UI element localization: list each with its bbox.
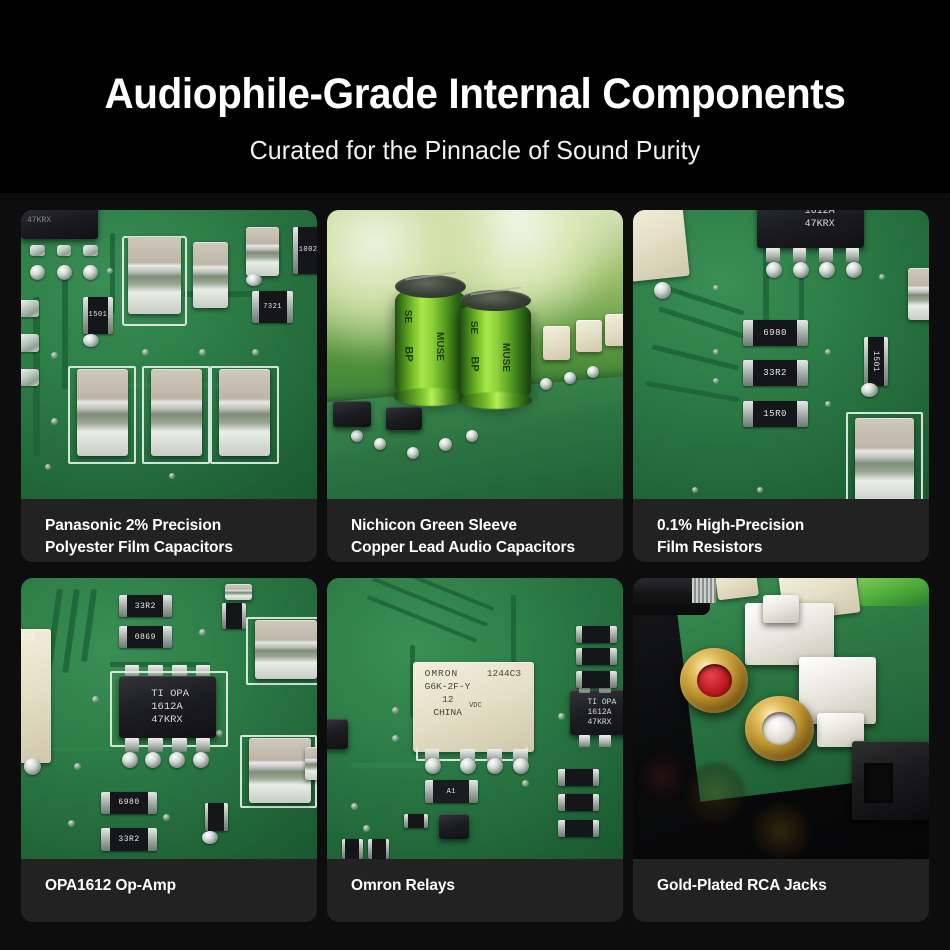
- component-card-grid: 47KRX: [21, 210, 929, 922]
- chip-marking-line-1: TI OPA: [151, 688, 216, 701]
- chip-marking-ic: 47KRX: [21, 216, 98, 225]
- rca-jack-right-channel: [680, 648, 748, 713]
- chip-ti-opa1612-right: TI OPA 1612A 47KRX: [570, 690, 623, 735]
- resistor-33r2-top: 33R2: [119, 595, 172, 617]
- chip-marking-line-2: 1612A: [587, 708, 623, 718]
- resistor-marking-0869: 0869: [135, 633, 156, 642]
- caption-line-1: Nichicon Green Sleeve: [351, 515, 601, 537]
- resistor-6980: 6980: [743, 320, 808, 346]
- capacitor-marking-se: SE: [402, 309, 413, 322]
- resistor-marking-1501: 1501: [871, 351, 880, 372]
- caption-line-1: Omron Relays: [351, 875, 601, 897]
- caption-line-2: Film Resistors: [657, 537, 907, 559]
- page-subtitle: Curated for the Pinnacle of Sound Purity: [19, 135, 931, 166]
- resistor-15r0: 15R0: [743, 401, 808, 427]
- resistor-marking-15r0: 15R0: [763, 409, 787, 419]
- rca-jack-left-channel: [745, 696, 813, 761]
- component-caption-gold-plated-rca-jacks: Gold-Plated RCA Jacks: [633, 859, 929, 922]
- chip-marking-line-2: 47KRX: [805, 219, 864, 232]
- component-photo-panasonic-film-capacitors: 47KRX: [21, 210, 317, 499]
- relay-marking-voltage-unit: VDC: [469, 702, 482, 710]
- connector-block: [633, 210, 690, 282]
- capacitor-marking-muse-2: MUSE: [500, 343, 511, 372]
- capacitor-marking-se-2: SE: [468, 321, 479, 334]
- resistor-33r2: 33R2: [743, 360, 808, 386]
- silkscreen-c3: C3: [21, 631, 35, 645]
- chip-marking-line-3: 47KRX: [587, 718, 623, 728]
- component-card-nichicon-green-sleeve-capacitors[interactable]: SE BP MUSE SE BP MUSE Nichicon Green S: [327, 210, 623, 562]
- resistor-marking-33r2: 33R2: [135, 602, 156, 611]
- capacitor-marking-muse: MUSE: [434, 332, 445, 361]
- component-card-film-resistors[interactable]: 1612A 47KRX 6980 33R: [633, 210, 929, 562]
- resistor-small-bottom: [205, 803, 229, 831]
- chip-ti-opa1612: TI OPA 1612A 47KRX: [119, 676, 217, 738]
- resistor-marking-6980: 6980: [763, 328, 787, 338]
- component-caption-omron-relays: Omron Relays: [327, 859, 623, 922]
- capacitor-marking-bp-2: BP: [469, 356, 481, 371]
- component-card-omron-relays[interactable]: OMRON G6K-2F-Y 12 CHINA 1244C3 VDC: [327, 578, 623, 922]
- caption-line-1: Panasonic 2% Precision: [45, 515, 295, 537]
- caption-line-2: Polyester Film Capacitors: [45, 537, 295, 559]
- resistor-33r2-bottom: 33R2: [101, 828, 157, 850]
- diode-a1: A1: [425, 780, 478, 802]
- capacitor-marking-bp: BP: [402, 346, 414, 361]
- component-card-panasonic-film-capacitors[interactable]: 47KRX: [21, 210, 317, 562]
- relay-marking-code: 1244C3: [487, 668, 521, 679]
- component-photo-omron-relays: OMRON G6K-2F-Y 12 CHINA 1244C3 VDC: [327, 578, 623, 859]
- page-header: Audiophile-Grade Internal Components Cur…: [0, 0, 950, 193]
- component-card-opa1612-op-amp[interactable]: C3 33R2 0869: [21, 578, 317, 922]
- component-caption-opa1612-op-amp: OPA1612 Op-Amp: [21, 859, 317, 922]
- resistor-marking-6980: 6980: [118, 798, 139, 807]
- component-photo-opa1612-op-amp: C3 33R2 0869: [21, 578, 317, 859]
- resistor-0869: 0869: [119, 626, 172, 648]
- component-photo-film-resistors: 1612A 47KRX 6980 33R: [633, 210, 929, 499]
- product-feature-page: Audiophile-Grade Internal Components Cur…: [0, 0, 950, 950]
- resistor-1501: 1501: [864, 337, 888, 386]
- resistor-small-top: [222, 603, 246, 628]
- caption-line-1: 0.1% High-Precision: [657, 515, 907, 537]
- caption-line-1: Gold-Plated RCA Jacks: [657, 875, 907, 897]
- diode-marking-a1: A1: [447, 788, 456, 796]
- relay-marking-model: G6K-2F-Y: [425, 681, 535, 694]
- resistor-marking-1501: 1501: [89, 311, 108, 319]
- resistor-marking-1002: 1002: [299, 246, 317, 254]
- connector-block-c3: [21, 629, 51, 764]
- component-photo-gold-plated-rca-jacks: [633, 578, 929, 859]
- capacitor-nichicon-1: SE BP MUSE: [395, 285, 466, 401]
- caption-line-1: OPA1612 Op-Amp: [45, 875, 295, 897]
- page-title: Audiophile-Grade Internal Components: [29, 72, 922, 117]
- component-caption-film-resistors: 0.1% High-Precision Film Resistors: [633, 499, 929, 562]
- capacitor-nichicon-2: SE BP MUSE: [460, 300, 531, 404]
- resistor-6980-bottom: 6980: [101, 792, 157, 814]
- resistor-marking-7321: 7321: [263, 303, 282, 311]
- chip-1612a: 1612A 47KRX: [757, 210, 864, 248]
- component-caption-nichicon-green-sleeve-capacitors: Nichicon Green Sleeve Copper Lead Audio …: [327, 499, 623, 562]
- chip-marking-line-3: 47KRX: [151, 714, 216, 727]
- chip-marking-line-1: TI OPA: [587, 698, 623, 708]
- component-card-gold-plated-rca-jacks[interactable]: Gold-Plated RCA Jacks: [633, 578, 929, 922]
- resistor-marking-33r2-b: 33R2: [118, 835, 139, 844]
- caption-line-2: Copper Lead Audio Capacitors: [351, 537, 601, 559]
- resistor-marking-33r2: 33R2: [763, 368, 787, 378]
- chip-marking-line-2: 1612A: [151, 701, 216, 714]
- component-photo-nichicon-green-sleeve-capacitors: SE BP MUSE SE BP MUSE: [327, 210, 623, 499]
- component-caption-panasonic-film-capacitors: Panasonic 2% Precision Polyester Film Ca…: [21, 499, 317, 562]
- chip-marking-line-1: 1612A: [805, 210, 864, 219]
